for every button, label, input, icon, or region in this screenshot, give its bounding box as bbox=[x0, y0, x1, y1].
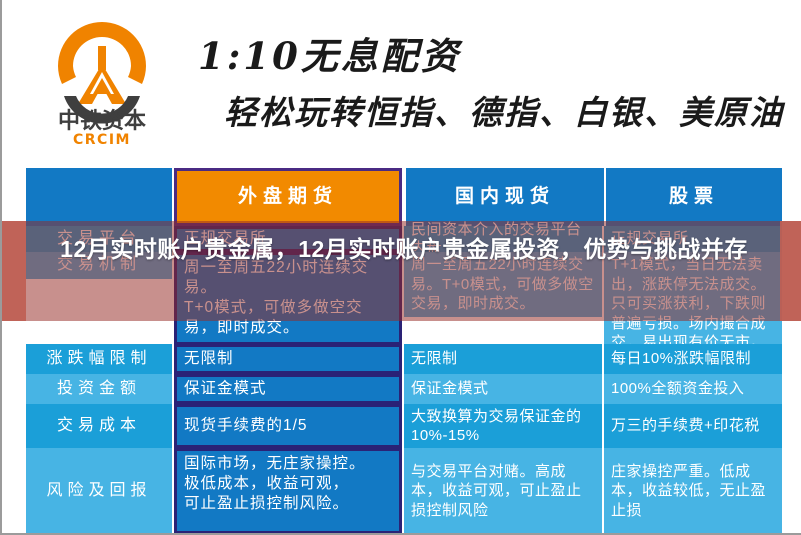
cell-b-touzijine: 保证金模式 bbox=[404, 374, 604, 404]
table-row: 交易机制 周一至周五22小时连续交易。 T+0模式，可做多做空交易，即时成交。 … bbox=[26, 252, 778, 344]
slide-canvas: 中铁资本 CRCIM 1:10无息配资 轻松玩转恒指、德指、白银、美原油 外盘期… bbox=[0, 0, 801, 535]
cell-b-fengxianjihuibao: 与交易平台对赌。高成本，收益可观，可止盈止损控制风险 bbox=[404, 448, 604, 534]
table-header-waipanqihuo[interactable]: 外盘期货 bbox=[174, 168, 402, 226]
table-row: 投资金额 保证金模式 保证金模式 100%全额资金投入 bbox=[26, 374, 778, 404]
headline-primary: 1:10无息配资 bbox=[198, 26, 798, 80]
cell-a-jiaoyichengben: 现货手续费的1/5 bbox=[174, 404, 402, 448]
row-label-touzijine: 投资金额 bbox=[26, 374, 172, 404]
cell-a-zhangdiefuxianzhi: 无限制 bbox=[174, 344, 402, 374]
cell-c-touzijine: 100%全额资金投入 bbox=[604, 374, 782, 404]
cell-b-zhangdiefuxianzhi: 无限制 bbox=[404, 344, 604, 374]
crcim-logo: 中铁资本 CRCIM bbox=[46, 16, 158, 148]
cell-c-jiaoyichengben: 万三的手续费+印花税 bbox=[604, 404, 782, 448]
table-row: 风险及回报 国际市场，无庄家操控。 极低成本，收益可观， 可止盈止损控制风险。 … bbox=[26, 448, 778, 534]
row-label-zhangdiefuxianzhi: 涨跌幅限制 bbox=[26, 344, 172, 374]
slide-header: 中铁资本 CRCIM 1:10无息配资 轻松玩转恒指、德指、白银、美原油 bbox=[2, 0, 801, 168]
logo-cn-text: 中铁资本 bbox=[58, 108, 146, 134]
row-label-jiaoyichengben: 交易成本 bbox=[26, 404, 172, 448]
comparison-table: 外盘期货 国内现货 股票 交易平台 正规交易所 民间资本介入的交易平台内盘 正规… bbox=[26, 168, 778, 534]
headline-block: 1:10无息配资 轻松玩转恒指、德指、白银、美原油 bbox=[198, 26, 798, 134]
cell-a-jiaoyijizhi: 周一至周五22小时连续交易。 T+0模式，可做多做空交易，即时成交。 bbox=[174, 252, 402, 345]
table-header-row: 外盘期货 国内现货 股票 bbox=[26, 168, 778, 226]
cell-a-fengxianjihuibao: 国际市场，无庄家操控。 极低成本，收益可观， 可止盈止损控制风险。 bbox=[174, 448, 402, 534]
table-header-blank bbox=[26, 168, 172, 226]
cell-c-jiaoyijizhi: T+1模式，当日无法卖出，涨跌停无法成交。只可买涨获利，下跌则普遍亏损。场内撮合… bbox=[604, 252, 782, 356]
row-label-fengxianjihuibao: 风险及回报 bbox=[26, 448, 172, 534]
cell-a-touzijine: 保证金模式 bbox=[174, 374, 402, 404]
table-row: 交易成本 现货手续费的1/5 大致换算为交易保证金的10%-15% 万三的手续费… bbox=[26, 404, 778, 448]
overlay-band-right-edge bbox=[780, 221, 801, 321]
table-header-gupiao[interactable]: 股票 bbox=[604, 168, 782, 226]
cell-c-fengxianjihuibao: 庄家操控严重。低成本，收益较低，无止盈止损 bbox=[604, 448, 782, 534]
headline-secondary: 轻松玩转恒指、德指、白银、美原油 bbox=[224, 86, 798, 134]
logo-en-text: CRCIM bbox=[73, 132, 131, 148]
overlay-title-text: 12月实时账户贵金属，12月实时账户贵金属投资，优势与挑战并存 bbox=[58, 233, 750, 266]
cell-c-zhangdiefuxianzhi: 每日10%涨跌幅限制 bbox=[604, 344, 782, 374]
cell-b-jiaoyichengben: 大致换算为交易保证金的10%-15% bbox=[404, 404, 604, 448]
table-row: 涨跌幅限制 无限制 无限制 每日10%涨跌幅限制 bbox=[26, 344, 778, 374]
table-header-guoneixianhuo[interactable]: 国内现货 bbox=[404, 168, 604, 226]
overlay-band-left-edge bbox=[2, 221, 26, 321]
